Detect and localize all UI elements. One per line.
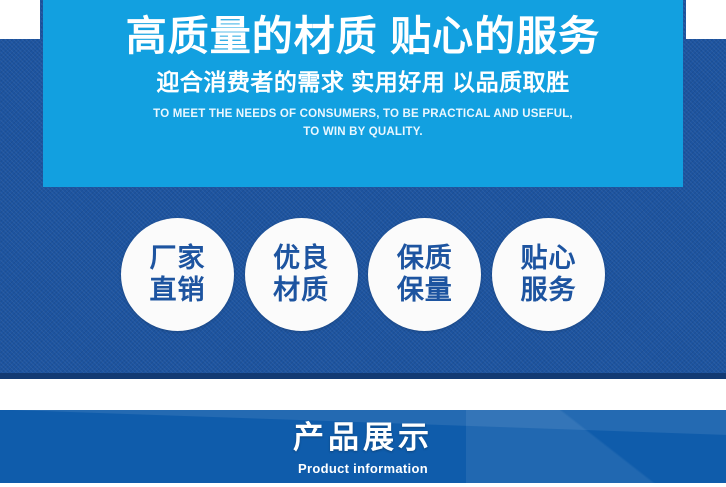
feature-circle-line-2: 服务 (520, 275, 576, 306)
feature-circle-line-1: 贴心 (520, 243, 576, 274)
feature-circle-line-2: 直销 (150, 275, 206, 306)
headline-sub: 迎合消费者的需求 实用好用 以品质取胜 (156, 69, 569, 97)
top-right-white-notch (686, 0, 726, 39)
hero-section: 高质量的材质 贴心的服务 迎合消费者的需求 实用好用 以品质取胜 TO MEET… (0, 0, 726, 379)
feature-circle-factory-direct: 厂家 直销 (121, 218, 234, 331)
headline-panel: 高质量的材质 贴心的服务 迎合消费者的需求 实用好用 以品质取胜 TO MEET… (43, 0, 683, 187)
headline-english-line-2: TO WIN BY QUALITY. (153, 124, 573, 142)
feature-circle-attentive-service: 贴心 服务 (492, 218, 605, 331)
product-banner: 产品展示 Product information (0, 410, 726, 485)
product-banner-content: 产品展示 Product information (0, 410, 726, 485)
top-left-white-notch (0, 0, 40, 39)
feature-circle-quality-material: 优良 材质 (245, 218, 358, 331)
product-banner-subtitle: Product information (298, 461, 428, 476)
feature-circle-line-2: 保量 (397, 275, 453, 306)
headline-english-line-1: TO MEET THE NEEDS OF CONSUMERS, TO BE PR… (153, 106, 573, 124)
feature-circle-row: 厂家 直销 优良 材质 保质 保量 贴心 服务 (43, 217, 683, 332)
product-banner-title: 产品展示 (293, 421, 433, 455)
feature-circle-guaranteed-quality: 保质 保量 (368, 218, 481, 331)
promo-page: 高质量的材质 贴心的服务 迎合消费者的需求 实用好用 以品质取胜 TO MEET… (0, 0, 726, 487)
headline-english: TO MEET THE NEEDS OF CONSUMERS, TO BE PR… (153, 106, 573, 142)
headline-main: 高质量的材质 贴心的服务 (126, 12, 600, 60)
hero-bottom-rule (0, 373, 726, 379)
feature-circle-line-2: 材质 (273, 275, 329, 306)
feature-circle-line-1: 厂家 (150, 243, 206, 274)
feature-circle-line-1: 优良 (273, 243, 329, 274)
feature-circle-line-1: 保质 (397, 243, 453, 274)
